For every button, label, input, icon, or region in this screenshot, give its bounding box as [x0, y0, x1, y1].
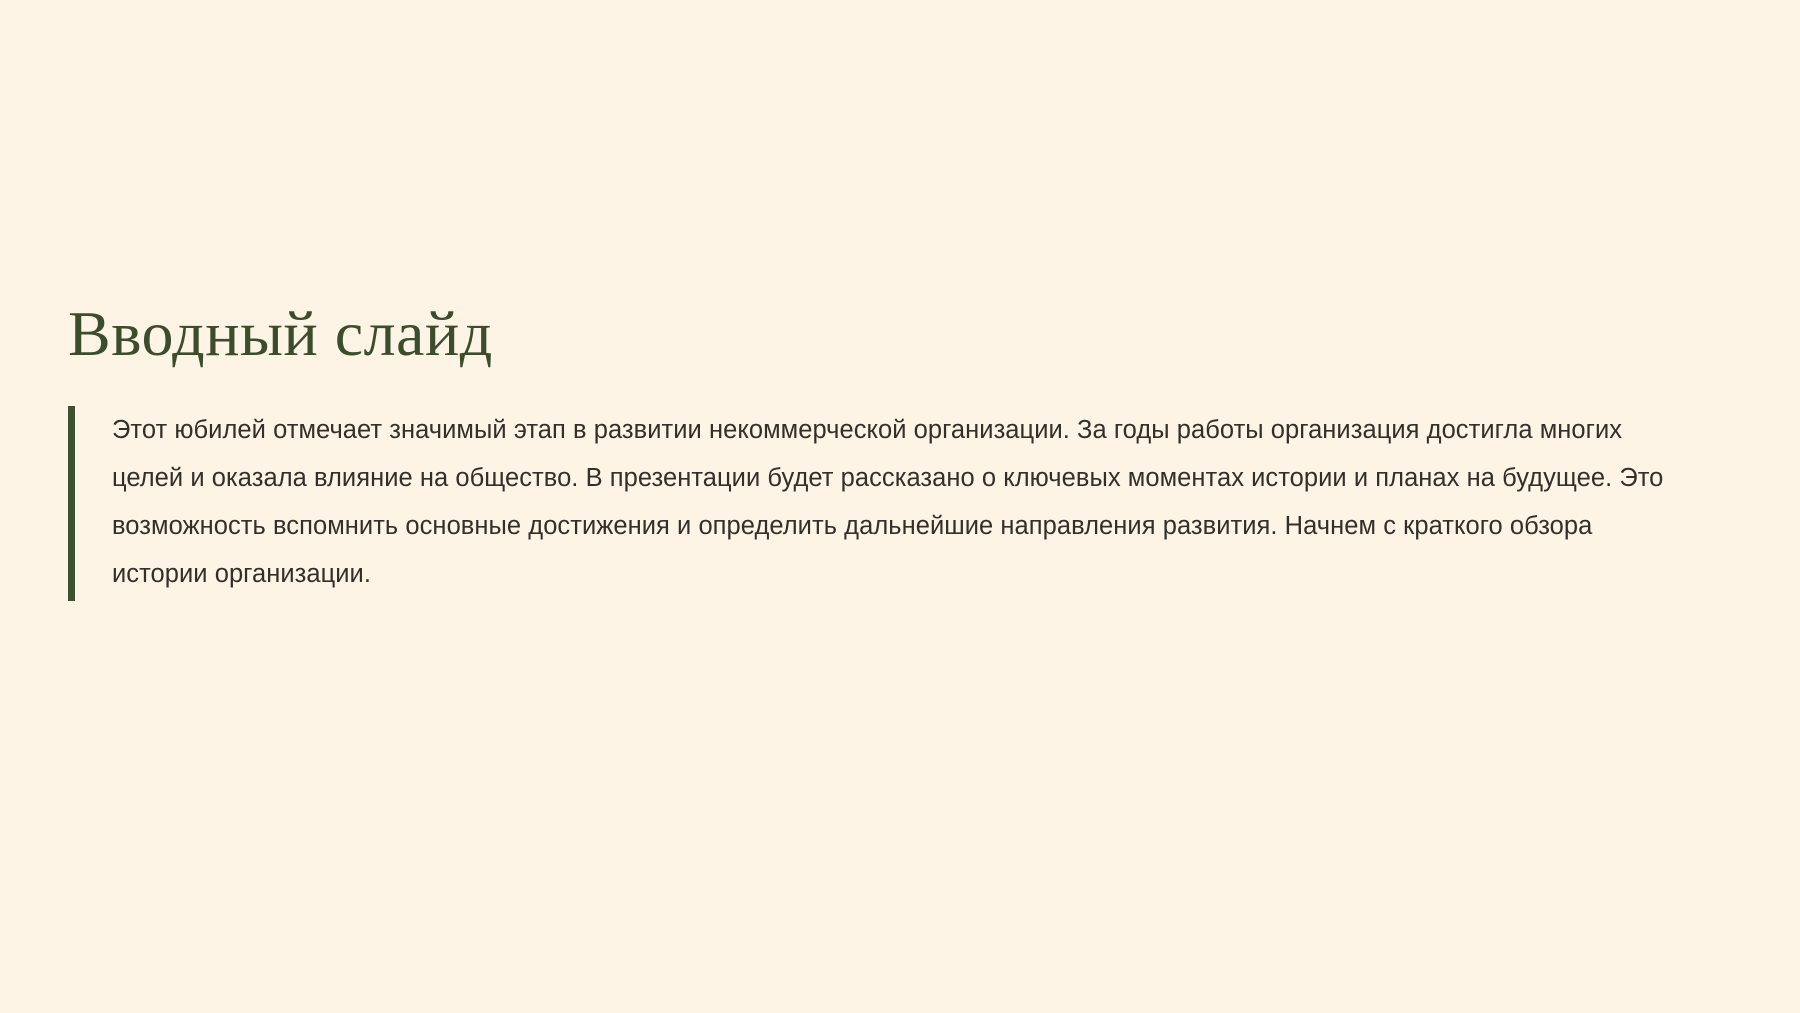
- slide-body-paragraph: Этот юбилей отмечает значимый этап в раз…: [112, 407, 1687, 599]
- slide-title: Вводный слайд: [68, 300, 1728, 368]
- accent-bar: [68, 406, 75, 601]
- body-block: Этот юбилей отмечает значимый этап в раз…: [68, 406, 1688, 601]
- presentation-slide: Вводный слайд Этот юбилей отмечает значи…: [0, 0, 1800, 1013]
- body-text-container: Этот юбилей отмечает значимый этап в раз…: [75, 406, 1688, 601]
- slide-content: Вводный слайд Этот юбилей отмечает значи…: [68, 300, 1728, 601]
